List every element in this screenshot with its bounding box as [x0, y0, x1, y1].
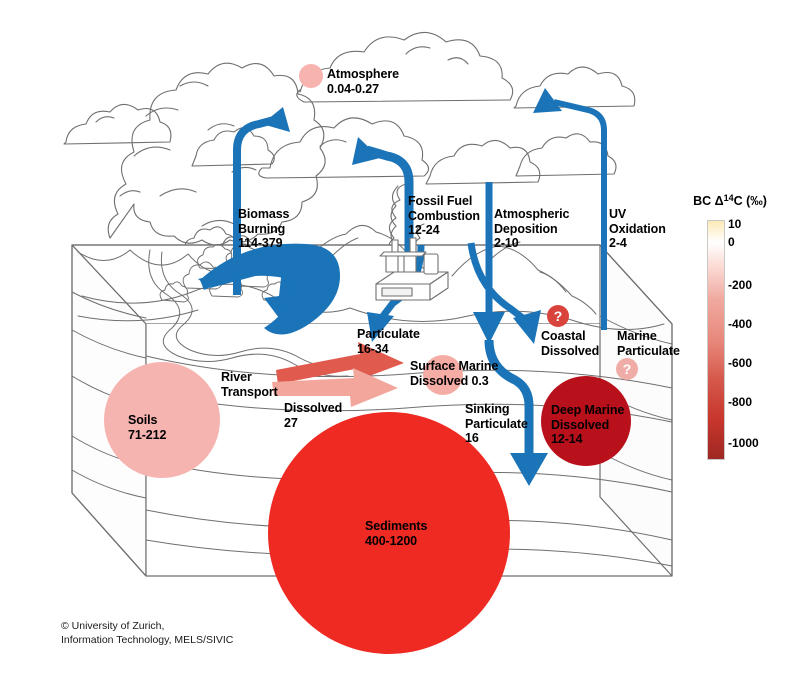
- label-deep-marine-dissolved: Deep Marine Dissolved 12-14: [551, 403, 624, 447]
- label-dissolved: Dissolved 27: [284, 401, 342, 430]
- colorbar-title: BC Δ14C (‰): [676, 193, 784, 208]
- label-fossil-fuel-combustion: Fossil Fuel Combustion 12-24: [408, 194, 480, 238]
- colorbar-tick-10: 10: [728, 217, 741, 231]
- colorbar-tick-0: 0: [728, 235, 735, 249]
- label-river-transport: River Transport: [221, 370, 278, 399]
- colorbar-tick--800: -800: [728, 395, 752, 409]
- colorbar-title-suffix: C (‰): [734, 194, 767, 208]
- label-marine-particulate: Marine Particulate: [617, 329, 680, 358]
- label-coastal-dissolved: Coastal Dissolved: [541, 329, 599, 358]
- colorbar-title-prefix: BC: [693, 194, 715, 208]
- label-atmosphere: Atmosphere 0.04-0.27: [327, 67, 399, 96]
- colorbar-gradient-bar: [707, 220, 725, 460]
- svg-text:?: ?: [554, 308, 563, 324]
- question-marker-coastal-dissolved: ?: [547, 305, 569, 327]
- svg-text:?: ?: [623, 361, 632, 377]
- copyright-credit: © University of Zurich, Information Tech…: [61, 620, 233, 648]
- label-atmospheric-deposition: Atmospheric Deposition 2-10: [494, 207, 569, 251]
- label-biomass-burning: Biomass Burning 114-379: [238, 207, 289, 251]
- label-soils: Soils 71-212: [128, 413, 166, 442]
- colorbar-tick--600: -600: [728, 356, 752, 370]
- label-sinking-particulate: Sinking Particulate 16: [465, 402, 528, 446]
- colorbar-title-delta: Δ: [715, 194, 724, 208]
- colorbar-legend: BC Δ14C (‰) 10 0 -200 -400 -600 -800 -10…: [676, 193, 796, 483]
- label-sediments: Sediments 400-1200: [365, 519, 427, 548]
- colorbar-tick--200: -200: [728, 278, 752, 292]
- colorbar-tick--1000: -1000: [728, 436, 759, 450]
- colorbar-title-superscript: 14: [724, 193, 734, 203]
- label-particulate: Particulate 16-34: [357, 327, 420, 356]
- question-marker-marine-particulate: ?: [616, 358, 638, 380]
- figure-canvas: ? ? Atmosphere 0.04-0.27 Biomass Burning…: [0, 0, 800, 681]
- label-uv-oxidation: UV Oxidation 2-4: [609, 207, 666, 251]
- colorbar-tick--400: -400: [728, 317, 752, 331]
- reservoir-circle-atmosphere: [299, 64, 323, 88]
- label-surface-marine-dissolved: Surface Marine Dissolved 0.3: [410, 359, 498, 388]
